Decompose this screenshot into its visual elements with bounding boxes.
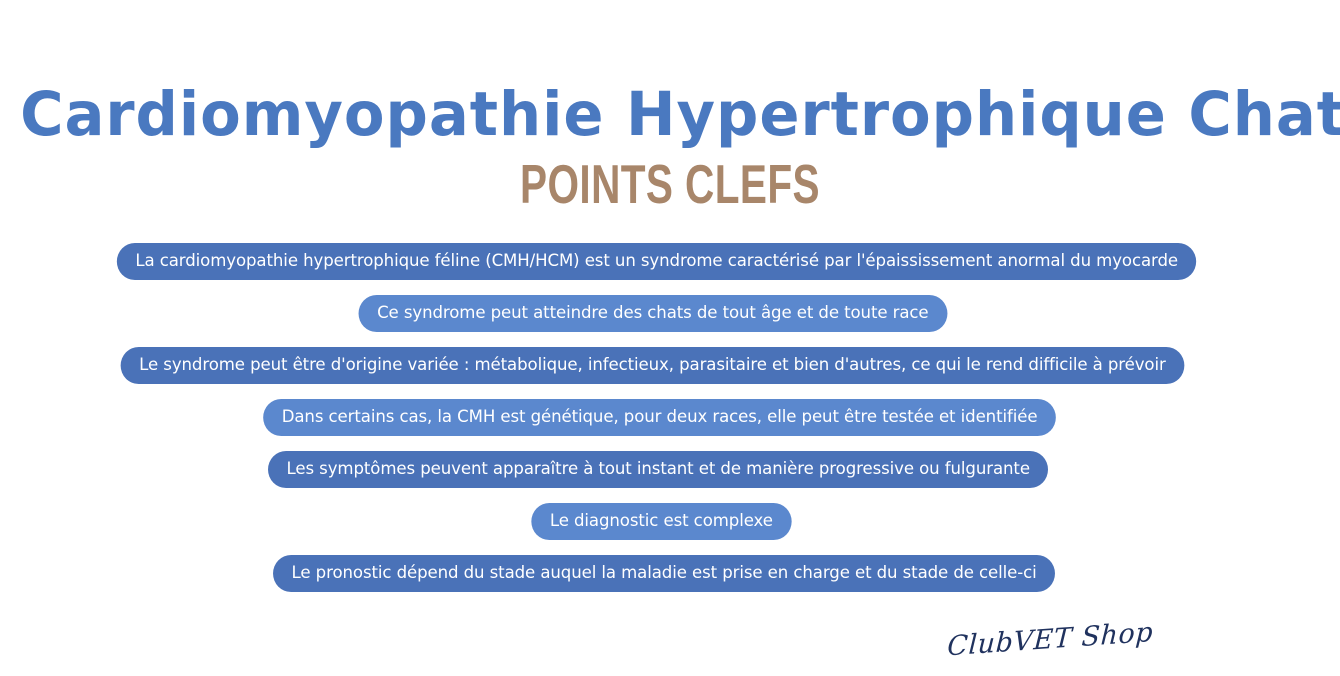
list-item: Ce syndrome peut atteindre des chats de … [359,295,948,332]
page-subtitle: POINTS CLEFS [147,157,1192,212]
key-points-list: La cardiomyopathie hypertrophique féline… [0,243,1340,592]
list-item: Dans certains cas, la CMH est génétique,… [263,399,1056,436]
title-block: Cardiomyopathie Hypertrophique Chat POIN… [0,84,1340,211]
list-item: Le syndrome peut être d'origine variée :… [120,347,1184,384]
brand-signature: ClubVET Shop [946,617,1154,663]
list-item: Les symptômes peuvent apparaître à tout … [268,451,1048,488]
page-title: Cardiomyopathie Hypertrophique Chat [20,84,1320,145]
list-item: Le diagnostic est complexe [531,503,791,540]
list-item: Le pronostic dépend du stade auquel la m… [273,555,1055,592]
list-item: La cardiomyopathie hypertrophique féline… [117,243,1197,280]
infographic-poster: Cardiomyopathie Hypertrophique Chat POIN… [0,0,1340,676]
